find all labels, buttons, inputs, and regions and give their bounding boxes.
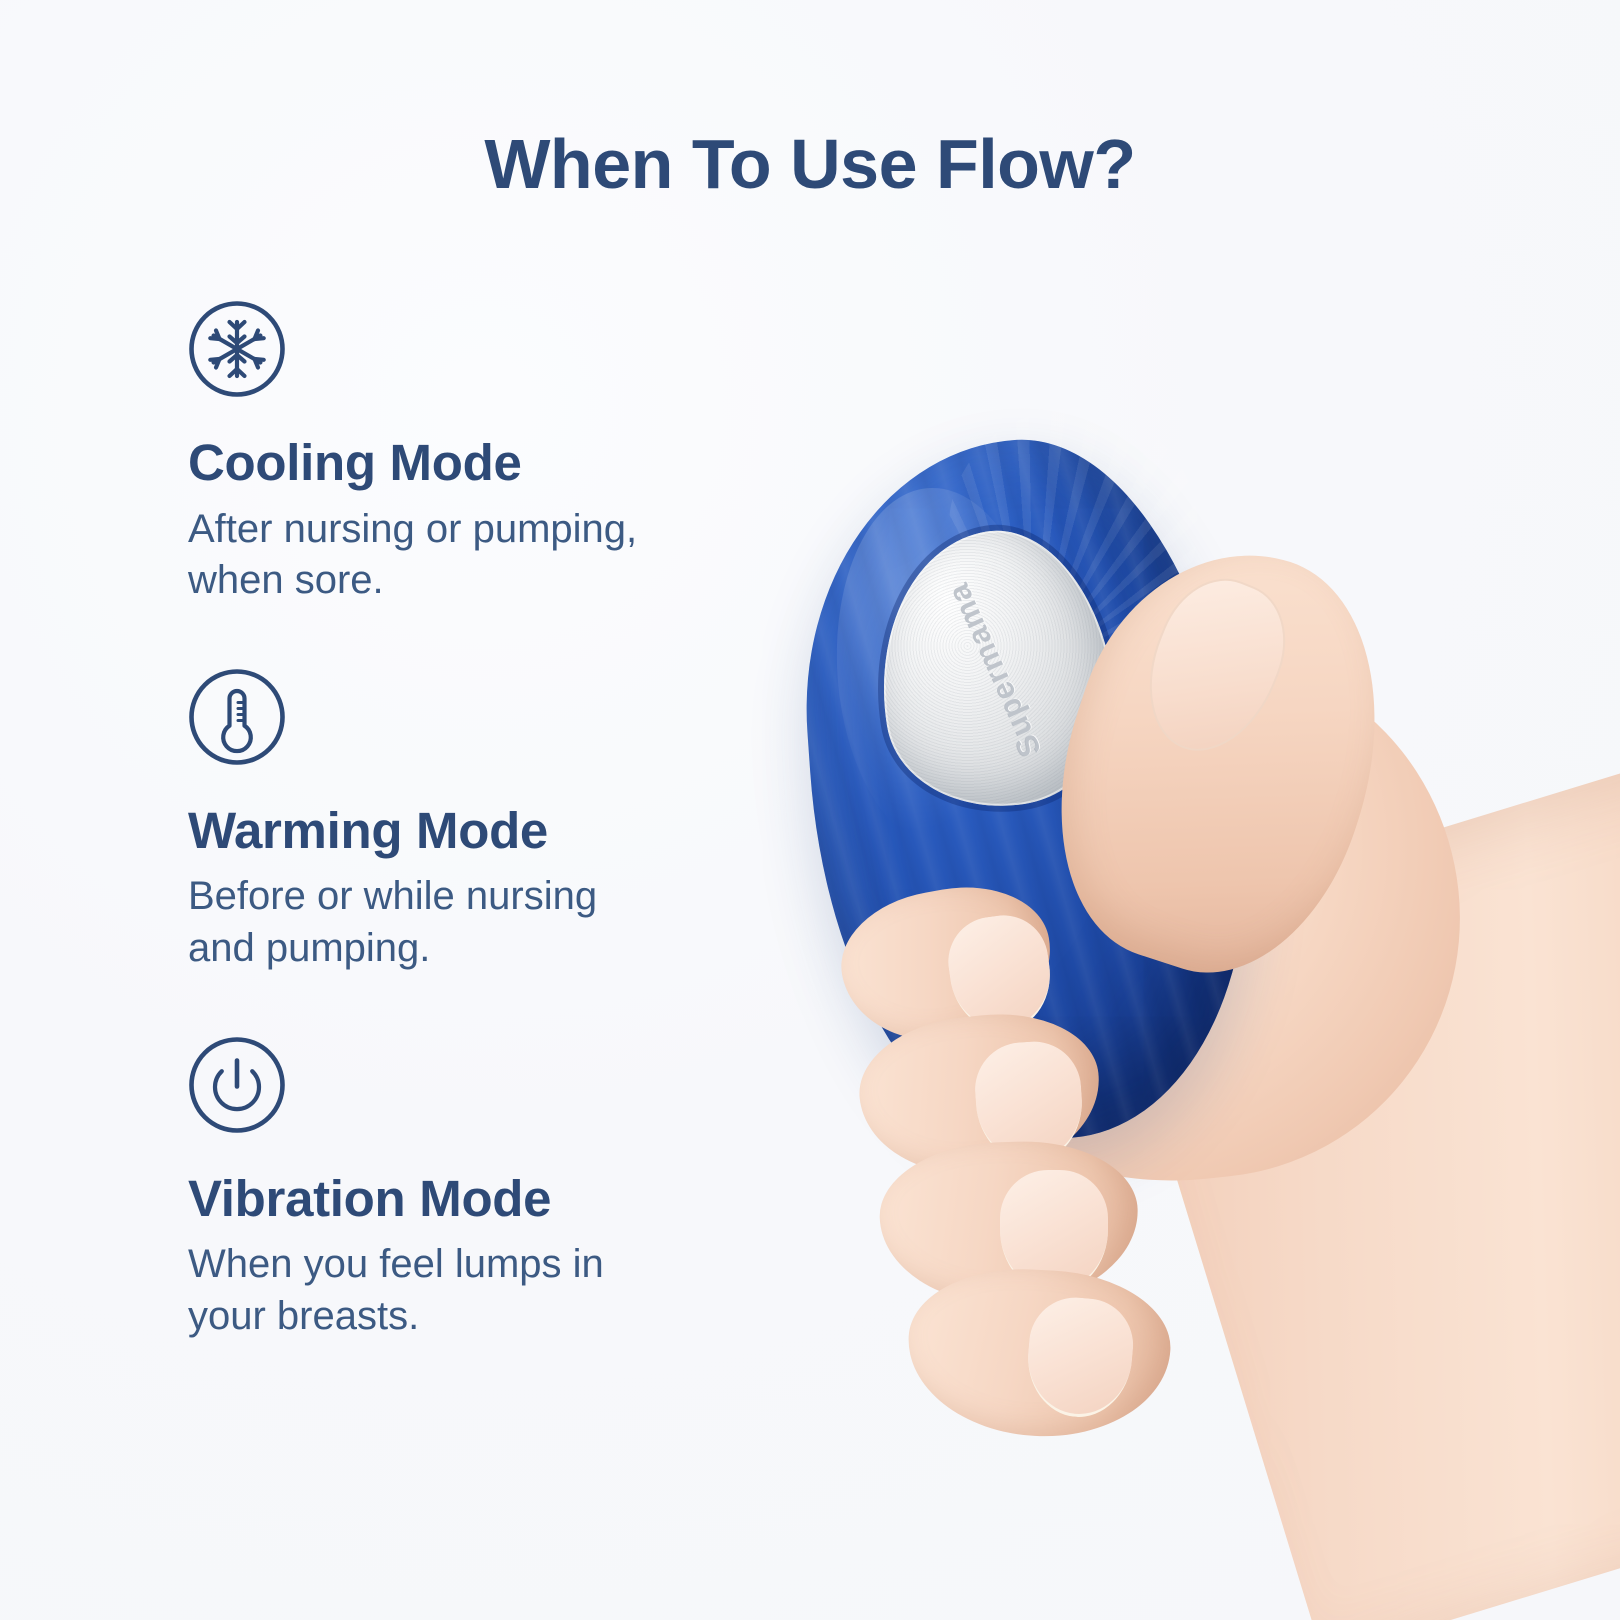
snowflake-icon xyxy=(188,300,286,398)
feature-description: When you feel lumps in your breasts. xyxy=(188,1239,688,1341)
feature-description-line: After nursing or pumping, xyxy=(188,504,688,555)
feature-description-line: and pumping. xyxy=(188,923,688,974)
feature-list: Cooling Mode After nursing or pumping, w… xyxy=(188,300,748,1342)
thermometer-icon xyxy=(188,668,286,766)
feature-warming-mode: Warming Mode Before or while nursing and… xyxy=(188,668,748,974)
feature-cooling-mode: Cooling Mode After nursing or pumping, w… xyxy=(188,300,748,606)
feature-description-line: when sore. xyxy=(188,555,688,606)
feature-description-line: When you feel lumps in xyxy=(188,1239,688,1290)
power-icon xyxy=(188,1036,286,1134)
feature-vibration-mode: Vibration Mode When you feel lumps in yo… xyxy=(188,1036,748,1342)
infographic-canvas: When To Use Flow? xyxy=(0,0,1620,1620)
feature-description: After nursing or pumping, when sore. xyxy=(188,504,688,606)
feature-heading: Cooling Mode xyxy=(188,436,748,490)
feature-description-line: your breasts. xyxy=(188,1291,688,1342)
page-title: When To Use Flow? xyxy=(0,124,1620,204)
feature-heading: Vibration Mode xyxy=(188,1172,748,1226)
feature-heading: Warming Mode xyxy=(188,804,748,858)
feature-description: Before or while nursing and pumping. xyxy=(188,871,688,973)
product-photo: Supermama xyxy=(700,330,1620,1620)
feature-description-line: Before or while nursing xyxy=(188,871,688,922)
